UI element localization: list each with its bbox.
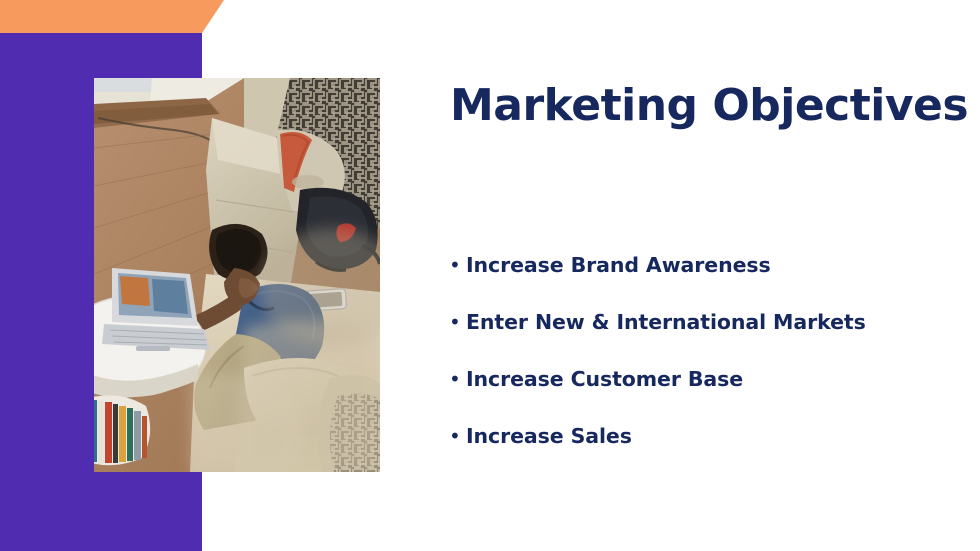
slide-canvas: Pitch Deck Presentation [0,0,980,551]
list-item-label: Increase Sales [466,424,632,448]
bullet-icon: • [440,312,466,332]
list-item-label: Increase Customer Base [466,367,743,391]
bullet-icon: • [440,255,466,275]
header-ribbon [0,0,224,33]
page-title: Marketing Objectives [450,80,968,131]
list-item-label: Enter New & International Markets [466,310,866,334]
bullet-icon: • [440,426,466,446]
list-item: • Enter New & International Markets [440,310,960,367]
list-item: • Increase Sales [440,424,960,481]
slide-photo [94,78,380,472]
list-item: • Increase Brand Awareness [440,253,960,310]
list-item: • Increase Customer Base [440,367,960,424]
content-column: Marketing Objectives • Increase Brand Aw… [418,0,980,551]
list-item-label: Increase Brand Awareness [466,253,771,277]
bullet-icon: • [440,369,466,389]
objectives-list: • Increase Brand Awareness • Enter New &… [440,253,960,481]
